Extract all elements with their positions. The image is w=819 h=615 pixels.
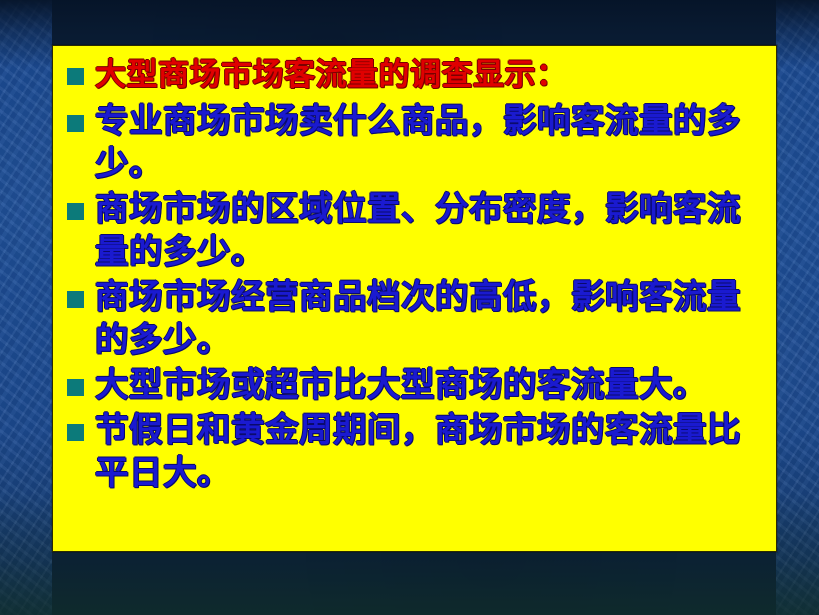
bullet-text-factor-location: 商场市场的区域位置、分布密度，影响客流量的多少。 xyxy=(95,187,766,273)
square-bullet-icon xyxy=(67,203,84,220)
bullet-item-heading: 大型商场市场客流量的调查显示： xyxy=(67,55,766,95)
background-right-band xyxy=(776,0,819,615)
square-bullet-icon xyxy=(67,68,84,85)
bullet-text-factor-grade: 商场市场经营商品档次的高低，影响客流量的多少。 xyxy=(95,275,766,361)
presentation-slide: 大型商场市场客流量的调查显示： 专业商场市场卖什么商品，影响客流量的多少。 商场… xyxy=(0,0,819,615)
content-panel: 大型商场市场客流量的调查显示： 专业商场市场卖什么商品，影响客流量的多少。 商场… xyxy=(52,45,777,552)
bullet-text-heading: 大型商场市场客流量的调查显示： xyxy=(95,55,766,95)
bullet-item-factor-merchandise: 专业商场市场卖什么商品，影响客流量的多少。 xyxy=(67,99,766,185)
square-bullet-icon xyxy=(67,291,84,308)
bullet-text-factor-format: 大型市场或超市比大型商场的客流量大。 xyxy=(95,363,766,406)
bullet-item-factor-format: 大型市场或超市比大型商场的客流量大。 xyxy=(67,363,766,406)
bullet-list: 大型商场市场客流量的调查显示： 专业商场市场卖什么商品，影响客流量的多少。 商场… xyxy=(67,55,766,494)
bullet-item-factor-location: 商场市场的区域位置、分布密度，影响客流量的多少。 xyxy=(67,187,766,273)
bullet-text-factor-merchandise: 专业商场市场卖什么商品，影响客流量的多少。 xyxy=(95,99,766,185)
bullet-text-factor-holiday: 节假日和黄金周期间，商场市场的客流量比平日大。 xyxy=(95,408,766,494)
square-bullet-icon xyxy=(67,424,84,441)
background-left-band xyxy=(0,0,52,615)
bullet-item-factor-holiday: 节假日和黄金周期间，商场市场的客流量比平日大。 xyxy=(67,408,766,494)
square-bullet-icon xyxy=(67,379,84,396)
bullet-item-factor-grade: 商场市场经营商品档次的高低，影响客流量的多少。 xyxy=(67,275,766,361)
square-bullet-icon xyxy=(67,115,84,132)
